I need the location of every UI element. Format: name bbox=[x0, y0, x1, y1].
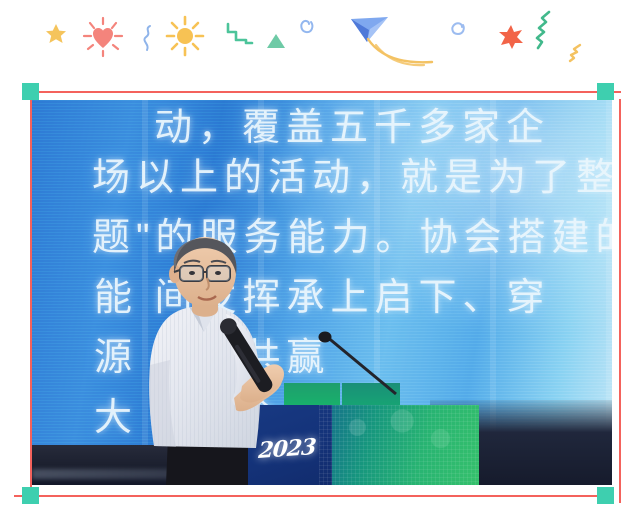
wave-yellow-icon bbox=[568, 42, 592, 64]
frame-corner-top-left bbox=[22, 83, 39, 100]
decorative-doodle-strip bbox=[0, 0, 635, 86]
squiggle-icon bbox=[141, 25, 155, 51]
frame-corner-bottom-left bbox=[22, 487, 39, 504]
frame-corner-bottom-right bbox=[597, 487, 614, 504]
triangle-icon bbox=[266, 33, 286, 49]
sun-icon bbox=[164, 14, 206, 58]
heart-burst-icon bbox=[82, 16, 124, 58]
star-icon bbox=[44, 22, 68, 46]
star-burst-icon bbox=[498, 24, 524, 50]
trail-swoosh-icon bbox=[366, 37, 434, 67]
frame-corner-top-right bbox=[597, 83, 614, 100]
led-text-line-1: 动，覆盖五千多家企 bbox=[154, 100, 612, 151]
zigzag-icon bbox=[226, 22, 254, 46]
led-text-line-2: 场以上的活动，就是为了整合 bbox=[92, 146, 612, 201]
frame-line-top bbox=[30, 91, 621, 93]
microphone-stand-icon bbox=[316, 332, 402, 402]
spiral-small-icon bbox=[446, 20, 468, 44]
wave-green-icon bbox=[534, 10, 566, 50]
frame-line-bottom bbox=[14, 495, 605, 497]
spiral-icon bbox=[294, 18, 316, 42]
conference-speaker-photo: 动，覆盖五千多家企 场以上的活动，就是为了整合 题"的服务能力。协会搭建的节 能… bbox=[32, 100, 612, 485]
frame-line-right bbox=[619, 99, 621, 503]
screenshot-stage: 动，覆盖五千多家企 场以上的活动，就是为了整合 题"的服务能力。协会搭建的节 能… bbox=[0, 0, 635, 509]
